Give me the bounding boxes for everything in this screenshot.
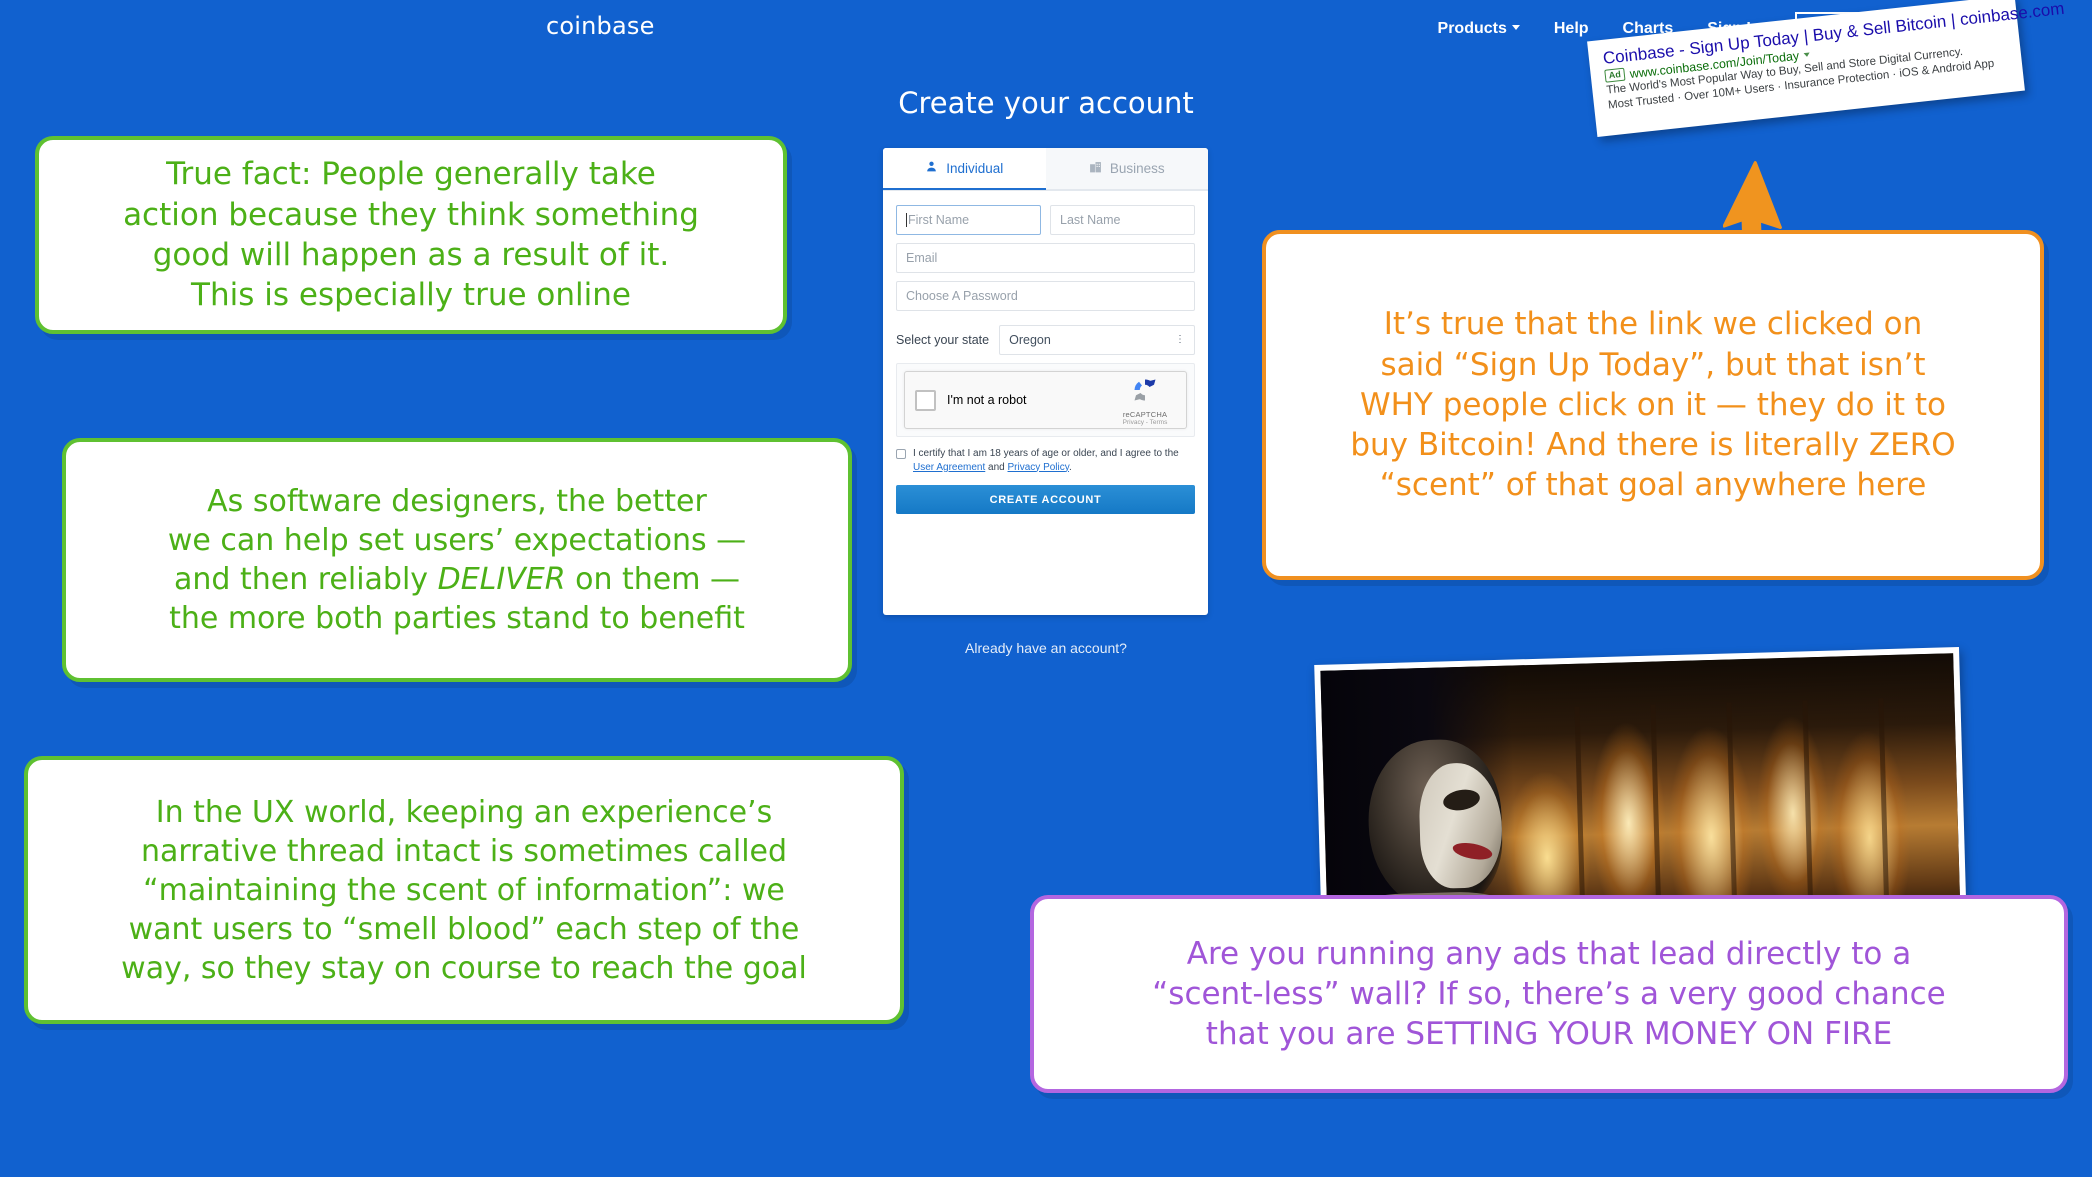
- callout-line: buy Bitcoin! And there is literally ZERO: [1288, 425, 2018, 465]
- nav-item-products[interactable]: Products: [1438, 20, 1520, 38]
- recaptcha-terms[interactable]: Privacy - Terms: [1114, 419, 1176, 426]
- callout-line: good will happen as a result of it.: [65, 235, 757, 275]
- callout-scent-of-information: In the UX world, keeping an experience’s…: [24, 756, 904, 1024]
- callout-line: “maintaining the scent of information”: …: [46, 871, 882, 910]
- callout-line: Are you running any ads that lead direct…: [1058, 934, 2040, 974]
- certify-text: I certify that I am 18 years of age or o…: [913, 448, 1179, 459]
- privacy-policy-link[interactable]: Privacy Policy: [1008, 462, 1070, 473]
- create-account-button[interactable]: CREATE ACCOUNT: [896, 485, 1195, 514]
- callout-true-fact: True fact: People generally take action …: [35, 136, 787, 334]
- callout-line: that you are SETTING YOUR MONEY ON FIRE: [1058, 1014, 2040, 1054]
- callout-line: This is especially true online: [65, 275, 757, 315]
- person-icon: [925, 160, 938, 176]
- callout-line: As software designers, the better: [88, 482, 826, 521]
- ad-badge: Ad: [1604, 68, 1625, 83]
- tab-individual[interactable]: Individual: [883, 148, 1046, 190]
- tab-business[interactable]: Business: [1046, 148, 1209, 190]
- callout-line: It’s true that the link we clicked on: [1288, 304, 2018, 344]
- certify-and: and: [988, 462, 1005, 473]
- callout-line: True fact: People generally take: [65, 154, 757, 194]
- recaptcha-checkbox[interactable]: [915, 390, 936, 411]
- user-agreement-link[interactable]: User Agreement: [913, 462, 985, 473]
- callout-sign-up-today: It’s true that the link we clicked on sa…: [1262, 230, 2044, 580]
- recaptcha-icon: [1130, 375, 1160, 405]
- certify-period: .: [1069, 462, 1072, 473]
- email-input[interactable]: Email: [896, 243, 1195, 273]
- callout-line: In the UX world, keeping an experience’s: [46, 793, 882, 832]
- callout-line: “scent-less” wall? If so, there’s a very…: [1058, 974, 2040, 1014]
- coinbase-logo[interactable]: coinbase: [546, 12, 655, 40]
- state-select[interactable]: Oregon ⋮: [999, 325, 1195, 355]
- tab-individual-label: Individual: [946, 161, 1003, 176]
- chevron-down-icon: [1512, 25, 1520, 30]
- callout-line: way, so they stay on course to reach the…: [46, 949, 882, 988]
- name-row: First Name Last Name: [896, 205, 1195, 235]
- last-name-input[interactable]: Last Name: [1050, 205, 1195, 235]
- certify-text-block: I certify that I am 18 years of age or o…: [913, 447, 1195, 474]
- joker-figure: [1367, 738, 1505, 910]
- state-select-value: Oregon: [1009, 333, 1051, 347]
- callout-line: action because they think something: [65, 195, 757, 235]
- password-input[interactable]: Choose A Password: [896, 281, 1195, 311]
- nav-item-help[interactable]: Help: [1554, 20, 1589, 38]
- ad-dropdown-icon[interactable]: [1804, 52, 1810, 57]
- recaptcha-brand-label: reCAPTCHA: [1114, 410, 1176, 419]
- callout-software-designers: As software designers, the better we can…: [62, 438, 852, 682]
- state-label: Select your state: [896, 333, 989, 347]
- callout-line: WHY people click on it — they do it to: [1288, 385, 2018, 425]
- signup-form: First Name Last Name Email Choose A Pass…: [883, 191, 1208, 514]
- recaptcha-widget[interactable]: I'm not a robot reCAPTCHA Privacy - Term…: [904, 371, 1187, 429]
- nav-item-products-label: Products: [1438, 20, 1507, 37]
- callout-line: we can help set users’ expectations —: [88, 521, 826, 560]
- callout-line: and then reliably DELIVER on them —: [88, 560, 826, 599]
- account-type-tabs: Individual Business: [883, 148, 1208, 191]
- callout-line: said “Sign Up Today”, but that isn’t: [1288, 345, 2018, 385]
- signup-card: Individual Business First Name Last Name…: [883, 148, 1208, 615]
- callout-line: want users to “smell blood” each step of…: [46, 910, 882, 949]
- select-arrows-icon: ⋮: [1175, 335, 1185, 345]
- callout-line: “scent” of that goal anywhere here: [1288, 465, 2018, 505]
- first-name-input[interactable]: First Name: [896, 205, 1041, 235]
- state-row: Select your state Oregon ⋮: [896, 325, 1195, 355]
- callout-setting-money-on-fire: Are you running any ads that lead direct…: [1030, 895, 2068, 1093]
- callout-line: narrative thread intact is sometimes cal…: [46, 832, 882, 871]
- recaptcha-container: I'm not a robot reCAPTCHA Privacy - Term…: [896, 363, 1195, 437]
- tab-business-label: Business: [1110, 161, 1165, 176]
- certify-checkbox[interactable]: [896, 449, 906, 459]
- building-icon: [1089, 161, 1102, 177]
- recaptcha-label: I'm not a robot: [947, 393, 1114, 407]
- recaptcha-branding: reCAPTCHA Privacy - Terms: [1114, 375, 1176, 426]
- callout-line: the more both parties stand to benefit: [88, 599, 826, 638]
- certify-row: I certify that I am 18 years of age or o…: [896, 447, 1195, 474]
